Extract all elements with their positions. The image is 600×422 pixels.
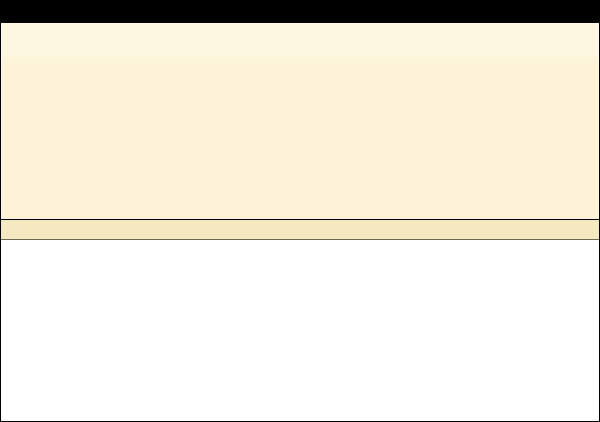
lower-era-header <box>1 220 600 240</box>
title-bar <box>1 1 600 23</box>
imsschedule-page <box>0 0 600 422</box>
bottom-schedule-pane <box>1 240 600 422</box>
top-schedule-pane <box>1 57 600 220</box>
